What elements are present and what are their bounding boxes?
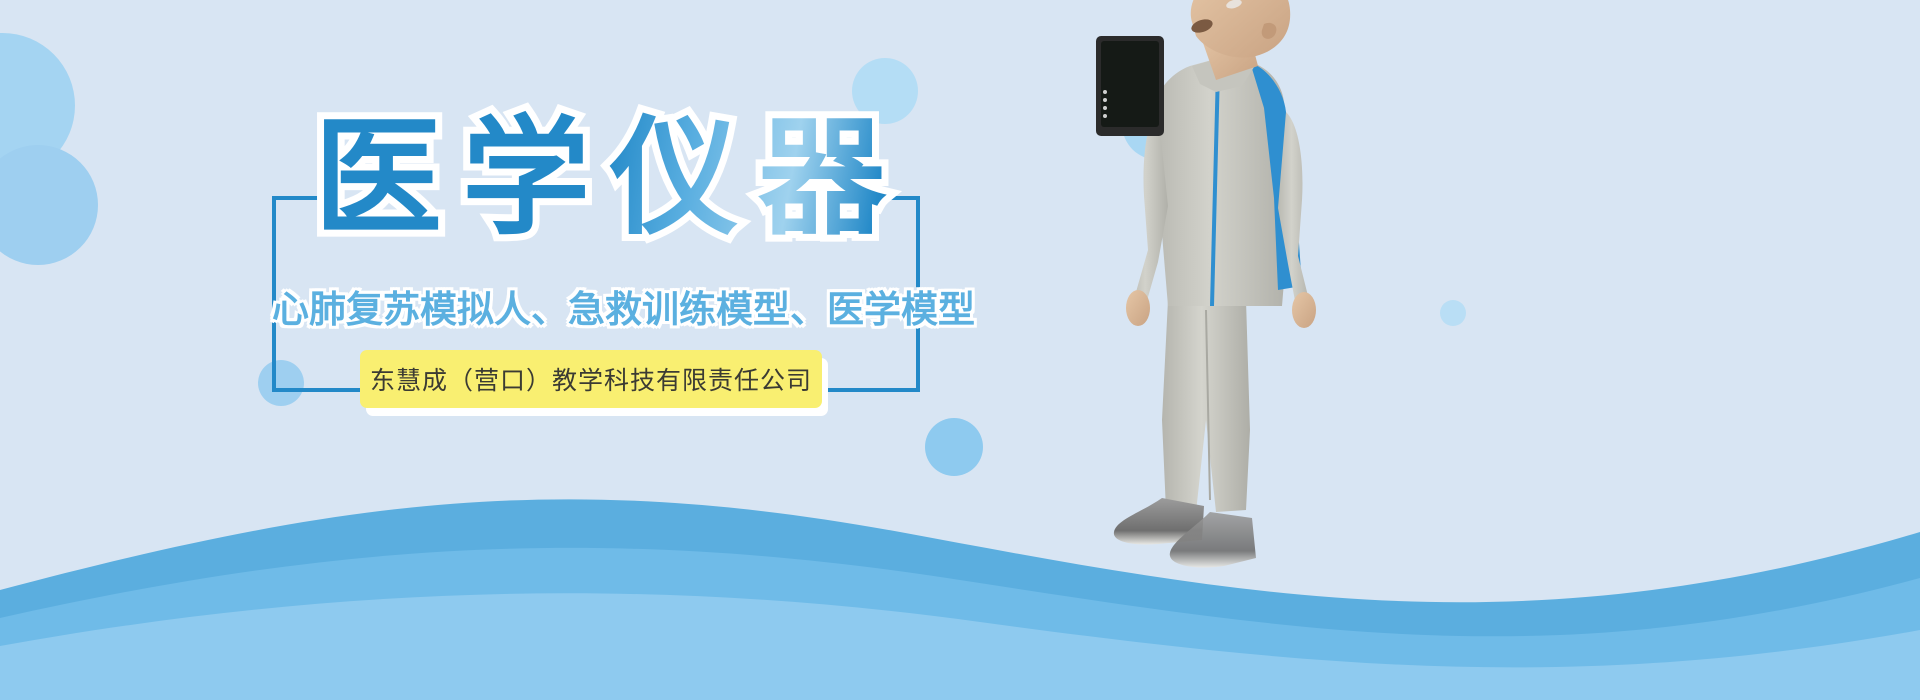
tablet-led-3 [1103,106,1107,110]
page-title: 医学仪器 医学仪器 [300,104,920,254]
tablet-led-4 [1103,114,1107,118]
tablet-screen [1101,41,1159,127]
company-name-badge: 东慧成（营口）教学科技有限责任公司 [360,350,822,408]
banner-text-block: 医学仪器 医学仪器 心肺复苏模拟人、急救训练模型、医学模型 东慧成（营口）教学科… [0,0,1000,700]
product-banner: 医学仪器 医学仪器 心肺复苏模拟人、急救训练模型、医学模型 东慧成（营口）教学科… [0,0,1920,700]
manikin-right-hand [1292,292,1316,328]
manikin-left-hand [1126,290,1150,326]
tablet-led-1 [1103,90,1107,94]
training-tablet-monitor-icon [1096,36,1164,136]
page-title-fill: 医学仪器 [300,104,920,254]
company-name-text: 东慧成（营口）教学科技有限责任公司 [370,361,812,397]
cpr-manikin-figure [1050,0,1450,580]
tablet-led-2 [1103,98,1107,102]
page-subtitle: 心肺复苏模拟人、急救训练模型、医学模型 [272,286,922,334]
